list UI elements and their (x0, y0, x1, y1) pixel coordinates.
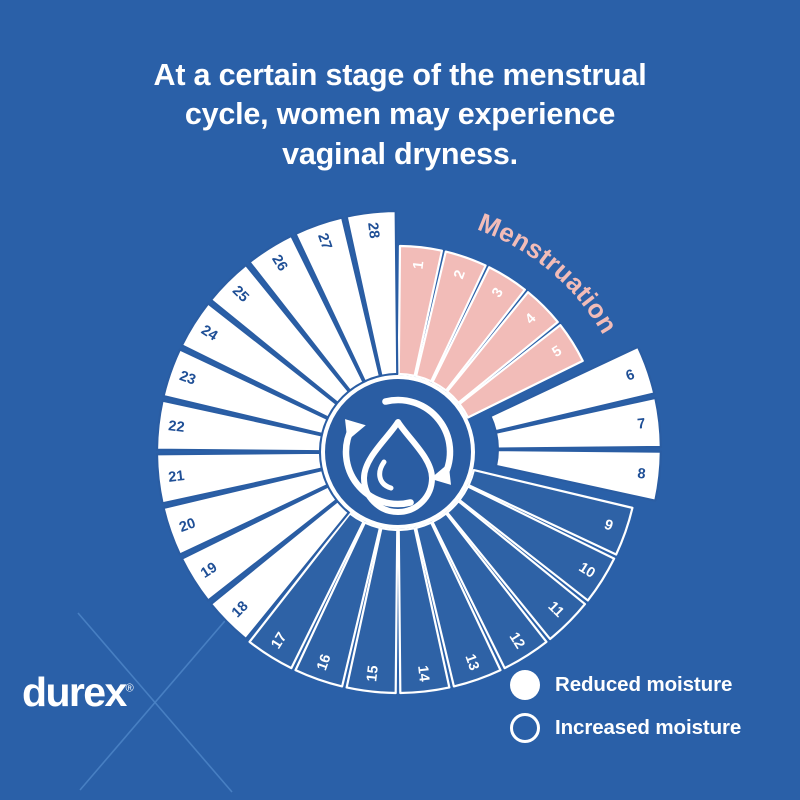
headline-line-1: At a certain stage of the menstrual (110, 56, 690, 95)
day-number-28: 28 (364, 221, 382, 239)
page-title: At a certain stage of the menstrual cycl… (0, 56, 800, 174)
day-number-15: 15 (364, 665, 382, 683)
registered-mark: ® (126, 682, 134, 694)
legend-item-reduced: Reduced moisture (510, 670, 741, 700)
legend: Reduced moisture Increased moisture (510, 670, 741, 743)
legend-item-increased: Increased moisture (510, 713, 741, 743)
brand-name: durex (22, 669, 126, 715)
legend-swatch-increased (510, 713, 540, 743)
legend-label-reduced: Reduced moisture (555, 673, 732, 697)
durex-logo: durex® (22, 672, 134, 713)
day-number-21: 21 (167, 468, 185, 486)
water-drop-cycle-icon (323, 377, 473, 527)
legend-swatch-reduced (510, 670, 540, 700)
day-number-22: 22 (167, 418, 185, 436)
headline-line-2: cycle, women may experience (110, 95, 690, 134)
headline-line-3: vaginal dryness. (110, 135, 690, 174)
legend-label-increased: Increased moisture (555, 716, 741, 740)
day-number-14: 14 (414, 665, 432, 683)
